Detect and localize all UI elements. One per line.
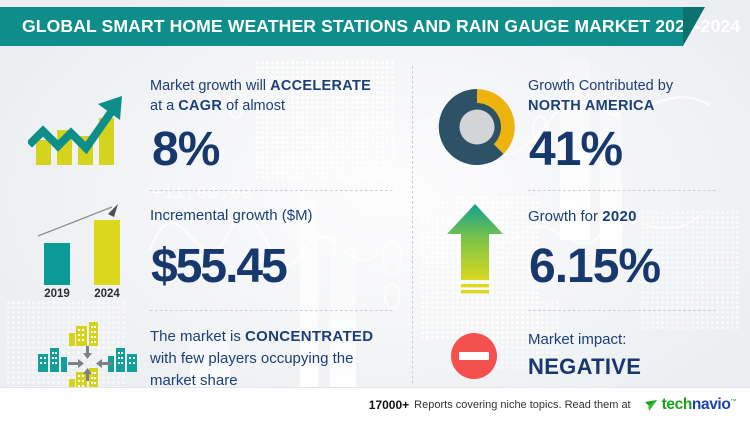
market-concentration-buildings-icon: [36, 322, 144, 396]
cagr-text-line2-plain-a: at a: [150, 98, 178, 114]
page-title: GLOBAL SMART HOME WEATHER STATIONS AND R…: [22, 7, 740, 46]
logo-trademark: ™: [730, 399, 736, 405]
donut-chart-icon: [436, 86, 518, 168]
cell-impact-icon: [449, 331, 499, 381]
cell-incremental-icon: 2019 2024: [22, 198, 138, 300]
up-arrow-gradient-icon: [444, 202, 506, 300]
footer-report-count: 17000+: [369, 398, 409, 412]
footer-content: 17000+ Reports covering niche topics. Re…: [369, 388, 736, 422]
cagr-value: 8%: [152, 126, 219, 174]
concentration-line1-plain: The market is: [150, 328, 245, 345]
footer-bar: 17000+ Reports covering niche topics. Re…: [0, 387, 750, 422]
growth-year-value: 6.15%: [529, 243, 660, 291]
two-bar-comparison-icon: 2019 2024: [22, 198, 138, 300]
technavio-arrow-icon: [644, 398, 659, 413]
concentration-line1-bold: CONCENTRATED: [245, 328, 373, 345]
divider-right-lower: [528, 310, 718, 311]
incremental-label: Incremental growth ($M): [150, 206, 400, 226]
divider-left-lower: [150, 310, 395, 311]
banner-fold-corner: [683, 7, 705, 46]
negative-minus-circle-icon: [449, 331, 499, 381]
growth-year-text-bold: 2020: [602, 208, 637, 225]
cell-concentration-icon: [36, 322, 144, 396]
growth-year-text-plain: Growth for: [528, 208, 602, 225]
cagr-description: Market growth will ACCELERATE at a CAGR …: [150, 76, 395, 116]
cagr-text-line1-bold: ACCELERATE: [270, 78, 371, 94]
region-text-line2-bold: NORTH AMERICA: [528, 98, 655, 114]
concentration-description: The market is CONCENTRATED with few play…: [150, 326, 400, 392]
impact-value: NEGATIVE: [528, 356, 641, 378]
bg-ghost-number: +11,00.00: [152, 185, 253, 204]
technavio-logo[interactable]: technavio™: [644, 396, 736, 414]
cell-region-icon: [436, 86, 518, 168]
region-text-line1: Growth Contributed by: [528, 78, 673, 94]
infographic-canvas: +11,00.00 GLOBAL SMART HOME WEATHER STAT…: [0, 0, 750, 422]
growth-year-label: Growth for 2020: [528, 207, 728, 227]
cagr-text-line2-bold: CAGR: [178, 98, 222, 114]
cagr-text-line2-plain-b: of almost: [222, 98, 285, 114]
incremental-value: $55.45: [151, 243, 286, 291]
cell-cagr-icon: [28, 78, 126, 170]
divider-left-upper: [150, 190, 395, 191]
concentration-line2: with few players occupying the: [150, 350, 353, 367]
region-description: Growth Contributed by NORTH AMERICA: [528, 76, 728, 116]
logo-text-tech: tech: [662, 396, 692, 413]
vertical-column-divider: [412, 66, 413, 386]
impact-label: Market impact:: [528, 330, 728, 350]
cagr-text-line1-plain: Market growth will: [150, 78, 270, 94]
svg-text:2024: 2024: [94, 288, 120, 300]
divider-right-upper: [528, 190, 718, 191]
growth-bar-arrow-icon: [28, 78, 126, 170]
title-banner: GLOBAL SMART HOME WEATHER STATIONS AND R…: [0, 7, 683, 46]
footer-text: Reports covering niche topics. Read them…: [414, 399, 630, 411]
logo-text-navio: navio: [692, 396, 730, 413]
technavio-wordmark: technavio™: [662, 396, 736, 414]
svg-text:2019: 2019: [44, 288, 70, 300]
cell-growth-year-icon: [444, 202, 506, 300]
region-value: 41%: [529, 126, 622, 174]
